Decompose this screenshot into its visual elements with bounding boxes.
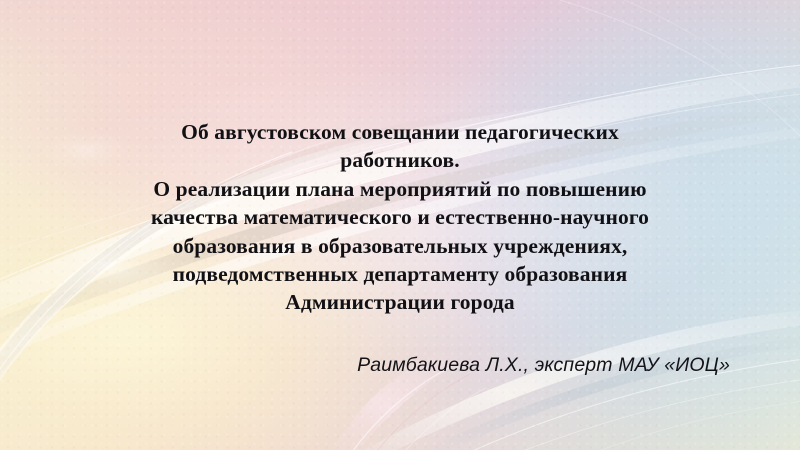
slide-title: Об августовском совещании педагогических… (58, 118, 742, 317)
title-line-1: Об августовском совещании педагогических (58, 118, 742, 146)
title-line-3: О реализации плана мероприятий по повыше… (58, 175, 742, 203)
title-line-4: качества математического и естественно-н… (58, 203, 742, 231)
slide-author: Раимбакиева Л.Х., эксперт МАУ «ИОЦ» (60, 353, 730, 378)
title-line-7: Администрации города (58, 288, 742, 316)
title-line-5: образования в образовательных учреждения… (58, 232, 742, 260)
slide-content: Об августовском совещании педагогических… (0, 0, 800, 450)
title-line-6: подведомственных департаменту образовани… (58, 260, 742, 288)
title-slide: Об августовском совещании педагогических… (0, 0, 800, 450)
title-line-2: работников. (58, 146, 742, 174)
author-attribution: Раимбакиева Л.Х., эксперт МАУ «ИОЦ» (60, 353, 730, 378)
